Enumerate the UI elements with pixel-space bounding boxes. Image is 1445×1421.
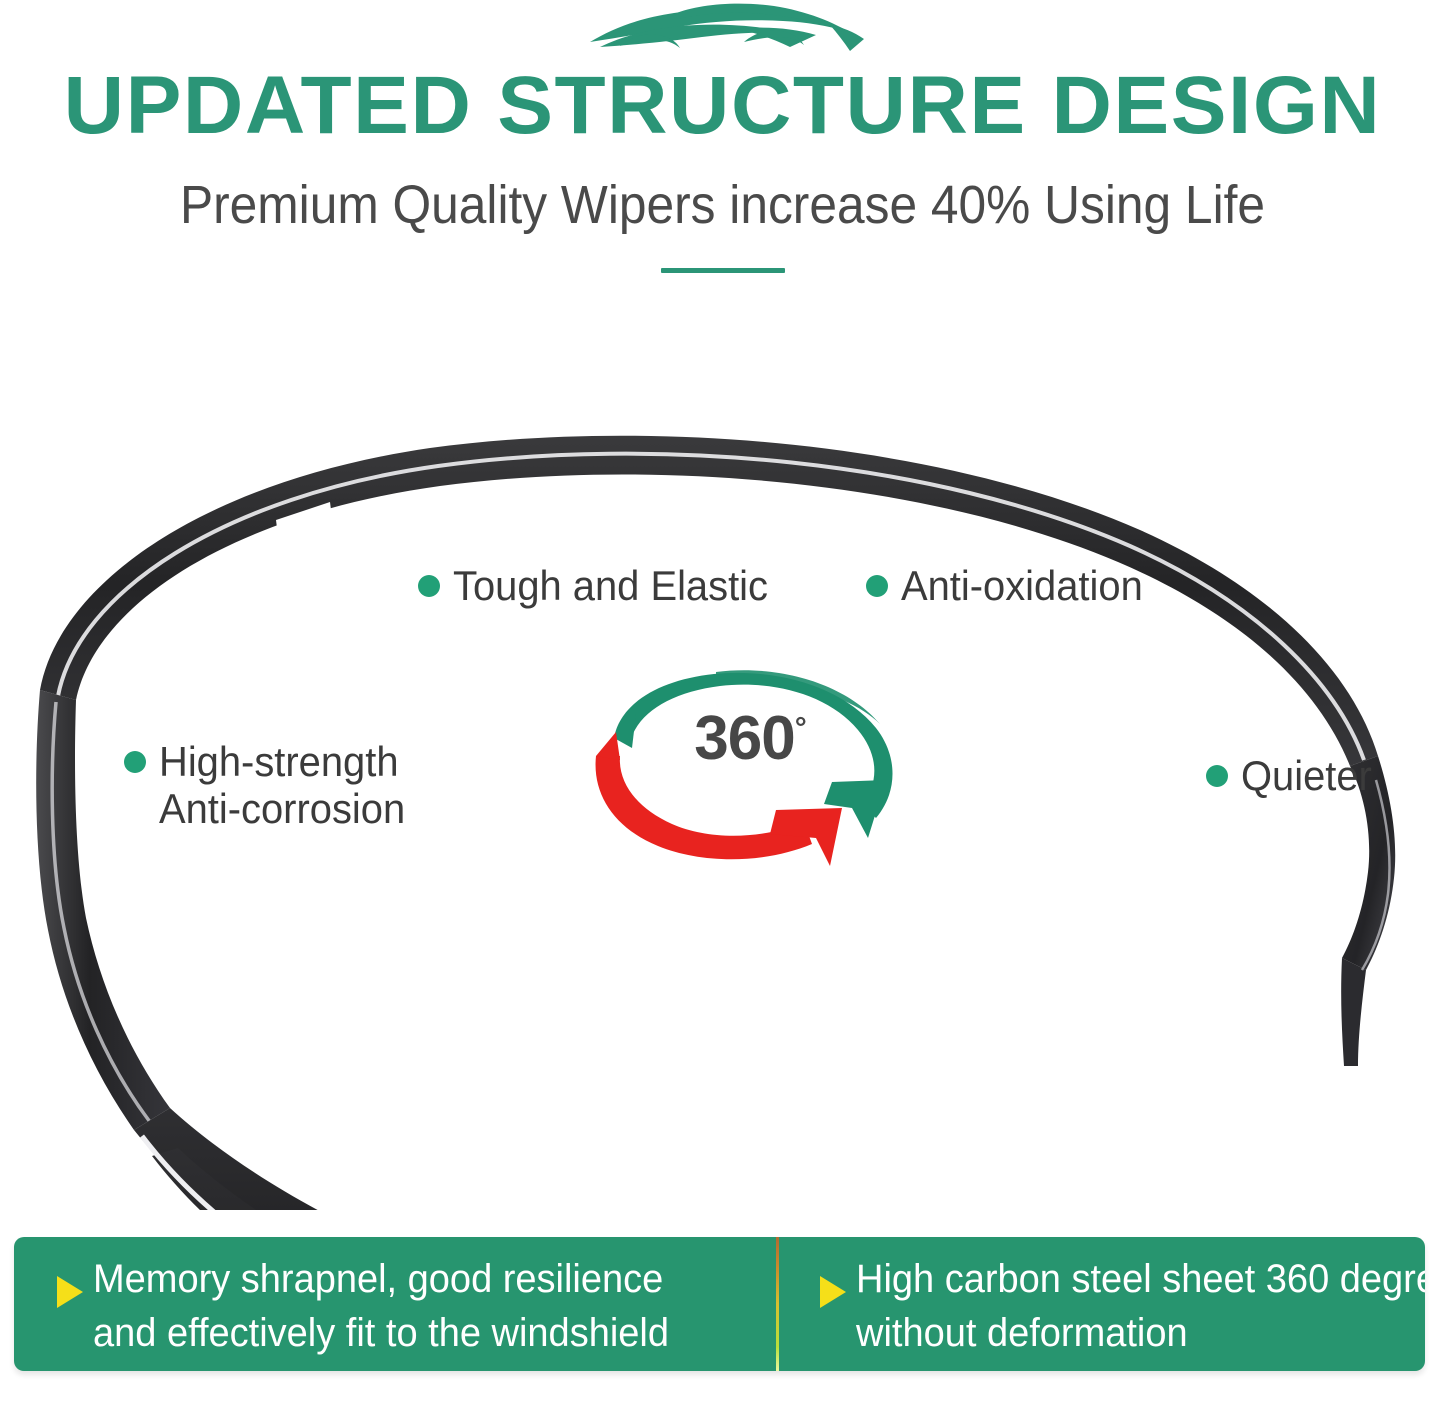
feature-label: Anti-oxidation bbox=[901, 562, 1143, 609]
banner-item-line: Memory shrapnel, good resilience bbox=[93, 1252, 669, 1306]
feature-line: Tough and Elastic bbox=[453, 562, 768, 609]
play-triangle-icon bbox=[57, 1276, 83, 1308]
page-title: UPDATED STRUCTURE DESIGN bbox=[0, 60, 1445, 152]
feature-line: High-strength bbox=[159, 738, 405, 785]
feature-callout-quieter: Quieter bbox=[1206, 752, 1379, 799]
play-triangle-icon bbox=[820, 1276, 846, 1308]
feature-label: Tough and Elastic bbox=[453, 562, 768, 609]
bullet-dot-icon bbox=[124, 751, 146, 773]
bullet-dot-icon bbox=[418, 575, 440, 597]
feature-callout-high-strength-anti-corrosion: High-strength Anti-corrosion bbox=[124, 738, 418, 832]
bottom-feature-banner: Memory shrapnel, good resilience and eff… bbox=[14, 1237, 1425, 1371]
infographic-page: UPDATED STRUCTURE DESIGN Premium Quality… bbox=[0, 0, 1445, 1421]
banner-item-text: High carbon steel sheet 360 degrees with… bbox=[856, 1252, 1425, 1360]
bullet-dot-icon bbox=[866, 575, 888, 597]
rotation-360-icon: 360° bbox=[580, 652, 920, 867]
feature-line: Anti-oxidation bbox=[901, 562, 1143, 609]
banner-item-high-carbon-steel: High carbon steel sheet 360 degrees with… bbox=[779, 1237, 1425, 1371]
feature-line: Anti-corrosion bbox=[159, 785, 405, 832]
banner-item-line: without deformation bbox=[856, 1306, 1425, 1360]
title-divider bbox=[661, 268, 785, 273]
car-silhouette-icon bbox=[0, 2, 1445, 62]
banner-item-line: High carbon steel sheet 360 degrees bbox=[856, 1252, 1425, 1306]
banner-item-line: and effectively fit to the windshield bbox=[93, 1306, 669, 1360]
badge-number: 360 bbox=[694, 704, 794, 773]
page-subtitle: Premium Quality Wipers increase 40% Usin… bbox=[58, 172, 1387, 238]
feature-label: Quieter bbox=[1241, 752, 1372, 799]
bullet-dot-icon bbox=[1206, 765, 1228, 787]
banner-item-memory-shrapnel: Memory shrapnel, good resilience and eff… bbox=[14, 1237, 776, 1371]
banner-item-text: Memory shrapnel, good resilience and eff… bbox=[93, 1252, 669, 1360]
feature-callout-tough-and-elastic: Tough and Elastic bbox=[418, 562, 785, 609]
feature-label: High-strength Anti-corrosion bbox=[159, 738, 405, 832]
feature-callout-anti-oxidation: Anti-oxidation bbox=[866, 562, 1155, 609]
feature-line: Quieter bbox=[1241, 752, 1372, 799]
badge-degree-symbol: ° bbox=[795, 711, 806, 744]
badge-value-label: 360° bbox=[580, 708, 920, 770]
